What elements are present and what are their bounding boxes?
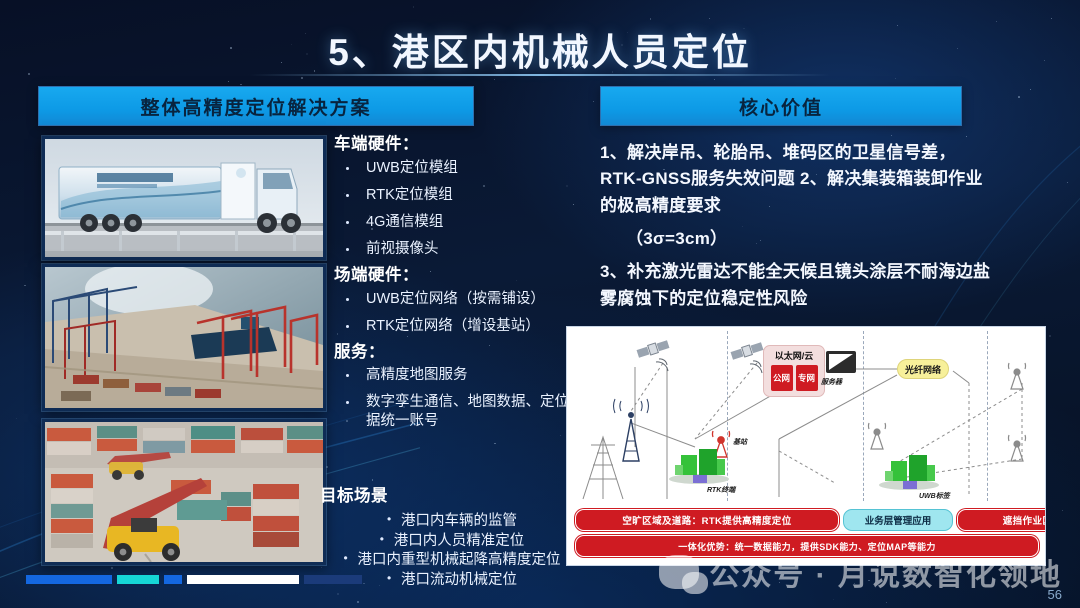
slide-title: 5、港区内机械人员定位	[0, 22, 1080, 76]
positioning-architecture-diagram: 以太网/云 公网 专网 光纤网络 服务器 基站 RTK终端 UWB标签 空旷区域…	[566, 326, 1046, 566]
bar-blocked-area: 遮挡作业区域：UWB网络高精度定位	[957, 509, 1046, 531]
list-item: 前视摄像头	[332, 240, 594, 258]
photo-port-quay-cranes	[42, 264, 326, 411]
server-label: 服务器	[821, 377, 842, 387]
footer-seg-blue	[26, 575, 112, 584]
target-scenarios: 目标场景 港口内车辆的监管 港口内人员精准定位 港口内重型机械起降高精度定位 港…	[318, 482, 600, 590]
title-underline	[250, 74, 830, 76]
solution-detail-list: 车端硬件： UWB定位模组 RTK定位模组 4G通信模组 前视摄像头 场端硬件：…	[332, 136, 594, 439]
list-item: 港口内人员精准定位	[394, 532, 525, 552]
group-heading-vehicle-hardware: 车端硬件：	[334, 136, 594, 153]
footer-seg-cyan	[117, 575, 159, 584]
service-items: 高精度地图服务 数字孪生通信、地图数据、定位 数据统一账号	[332, 366, 594, 429]
bar-open-area: 空旷区域及道路：RTK提供高精度定位	[575, 509, 839, 531]
value-paragraph-3: 3、补充激光雷达不能全天候且镜头涂层不耐海边盐雾腐蚀下的定位稳定性风险	[600, 259, 992, 312]
list-item: 4G通信模组	[332, 213, 594, 231]
ethernet-cloud-box: 以太网/云 公网 专网	[763, 345, 825, 397]
list-item: 数字孪生通信、地图数据、定位 数据统一账号	[332, 393, 594, 429]
list-item: 港口内重型机械起降高精度定位	[358, 551, 561, 571]
ethernet-cloud-cells: 公网 专网	[771, 365, 818, 391]
section-header-value-label: 核心价值	[739, 93, 823, 120]
group-heading-site-hardware: 场端硬件：	[334, 267, 594, 284]
section-header-solution-label: 整体高精度定位解决方案	[140, 93, 371, 120]
list-item: 港口内车辆的监管	[401, 512, 517, 532]
footer-seg-dark	[304, 575, 362, 584]
section-header-solution: 整体高精度定位解决方案	[38, 86, 474, 126]
base-station-label: 基站	[733, 437, 747, 447]
core-value-text: 1、解决岸吊、轮胎吊、堆码区的卫星信号差，RTK-GNSS服务失效问题 2、解决…	[600, 140, 992, 319]
footer-seg-blue-small	[164, 575, 182, 584]
footer-decoration-bar	[26, 575, 362, 584]
list-item: UWB定位网络（按需铺设）	[332, 290, 594, 308]
bar-business-layer: 业务层管理应用	[843, 509, 953, 531]
photo-port-autonomous-truck	[42, 136, 326, 260]
footer-seg-white	[187, 575, 299, 584]
uwb-tag-label: UWB标签	[919, 491, 950, 501]
group-heading-services: 服务：	[334, 344, 594, 361]
list-item: RTK定位网络（增设基站）	[332, 317, 594, 335]
vehicle-hardware-items: UWB定位模组 RTK定位模组 4G通信模组 前视摄像头	[332, 159, 594, 259]
private-network-cell: 专网	[796, 365, 818, 391]
section-header-value: 核心价值	[600, 86, 962, 126]
rtk-terminal-label: RTK终端	[707, 485, 735, 495]
list-item: RTK定位模组	[332, 186, 594, 204]
public-network-cell: 公网	[771, 365, 793, 391]
value-paragraph-1: 1、解决岸吊、轮胎吊、堆码区的卫星信号差，RTK-GNSS服务失效问题 2、解决…	[600, 140, 992, 219]
fiber-network-cloud: 光纤网络	[897, 359, 949, 379]
page-number: 56	[1048, 587, 1062, 602]
scenarios-heading: 目标场景	[320, 482, 600, 506]
list-item: UWB定位模组	[332, 159, 594, 177]
site-hardware-items: UWB定位网络（按需铺设） RTK定位网络（增设基站）	[332, 290, 594, 335]
list-item: 高精度地图服务	[332, 366, 594, 384]
list-item: 港口流动机械定位	[401, 571, 517, 591]
slide-canvas: 5、港区内机械人员定位 整体高精度定位解决方案 核心价值	[0, 0, 1080, 608]
photo-container-yard-reach-stacker	[42, 419, 326, 565]
value-paragraph-accuracy: （3σ=3cm）	[600, 226, 992, 252]
ethernet-cloud-title: 以太网/云	[775, 349, 814, 362]
bar-integration-advantage: 一体化优势：统一数据能力，提供SDK能力、定位MAP等能力	[575, 535, 1039, 557]
